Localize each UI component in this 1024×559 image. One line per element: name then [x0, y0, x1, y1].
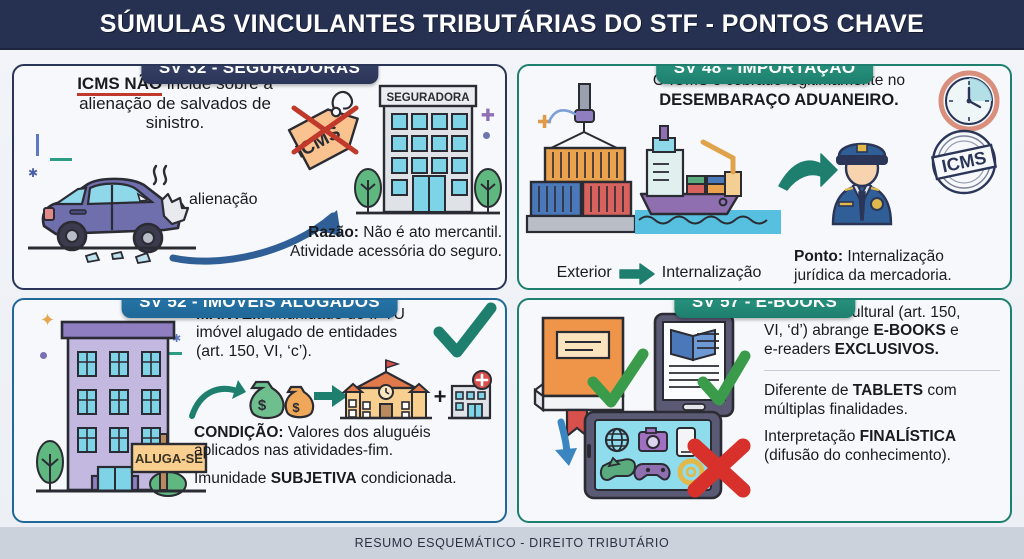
rent-to-entities-flow: $ $ [190, 368, 490, 424]
page-header: SÚMULAS VINCULANTES TRIBUTÁRIAS DO STF -… [0, 0, 1024, 50]
school-icon [340, 360, 432, 418]
green-check-icon [433, 306, 497, 362]
sv32-reason-label: Razão: [308, 224, 359, 241]
sv32-reason-line2: Atividade acessória do seguro. [290, 243, 502, 260]
cards-grid: SV 32 - SEGURADORAS ✱ ✚ ICMS NÃO incide … [0, 50, 1024, 527]
sv48-flow-to: Internalização [662, 264, 762, 283]
sv57-p3-pre: Interpretação [764, 428, 860, 445]
money-bag-icon: $ [250, 382, 283, 418]
customs-officer-icon [825, 128, 899, 224]
page-footer: RESUMO ESQUEMÁTICO - DIREITO TRIBUTÁRIO [0, 527, 1024, 559]
flow-arrow-icon [620, 264, 654, 284]
card-sv48[interactable]: SV 48 - IMPORTAÇÃO ✚ O ICMS é cobrado le… [517, 64, 1012, 290]
card-sv32[interactable]: SV 32 - SEGURADORAS ✱ ✚ ICMS NÃO incide … [12, 64, 507, 290]
hospital-icon [448, 371, 491, 418]
sv57-p1-line2-post: e [946, 322, 959, 339]
sv57-paragraph-2: Diferente de TABLETS com múltiplas final… [764, 382, 1004, 419]
tree-icon [37, 441, 63, 490]
sv57-p1-line2-bold: E-BOOKS [873, 322, 945, 339]
sv48-point: Ponto: Internalização jurídica da mercad… [794, 248, 1004, 285]
wall-clock-icon [938, 70, 1000, 132]
footer-caption: RESUMO ESQUEMÁTICO - DIREITO TRIBUTÁRIO [355, 536, 670, 550]
sv48-point-line2: jurídica da mercadoria. [794, 267, 952, 284]
sv52-condition-line2: aplicados nas atividades-fim. [194, 442, 393, 459]
money-bag-icon: $ [286, 387, 313, 417]
sv52-closing-post: condicionada. [357, 470, 457, 487]
sv52-closing: Imunidade SUBJETIVA condicionada. [194, 470, 494, 488]
apartment-building-icon: ALUGA-SE [36, 312, 206, 508]
decor-bar [36, 134, 39, 156]
sv52-statement-line3: (art. 150, VI, ‘c’). [196, 343, 312, 360]
svg-text:$: $ [258, 397, 267, 414]
plus-separator: + [434, 384, 447, 409]
card-sv52-badge: SV 52 - IMÓVEIS ALUGADOS [121, 298, 398, 318]
sv48-point-label: Ponto: [794, 248, 843, 265]
page-title: SÚMULAS VINCULANTES TRIBUTÁRIAS DO STF -… [100, 10, 924, 39]
sv57-p1-line3-bold: EXCLUSIVOS. [835, 341, 939, 358]
building-sign-label: SEGURADORA [386, 92, 469, 104]
sv52-condition-line1: Valores dos aluguéis [284, 424, 431, 441]
stamp-label: ICMS [940, 148, 988, 177]
sv52-condition: CONDIÇÃO: Valores dos aluguéis aplicados… [194, 424, 494, 461]
port-scene-icon [525, 84, 783, 256]
sv52-statement-line2: imóvel alugado de entidades [196, 324, 397, 341]
sv52-closing-pre: Imunidade [194, 470, 271, 487]
icms-stamp-icon: ICMS [926, 124, 1002, 200]
card-sv57[interactable]: SV 57 - E-BOOKS [517, 298, 1012, 524]
sv48-flow-from: Exterior [557, 264, 612, 283]
sv57-paragraph-3: Interpretação FINALÍSTICA (difusão do co… [764, 428, 1004, 465]
sv52-condition-label: CONDIÇÃO: [194, 424, 284, 441]
tree-icon [475, 169, 501, 212]
sv57-p3-bold: FINALÍSTICA [860, 428, 956, 445]
sv57-p2-line2: múltiplas finalidades. [764, 401, 908, 418]
card-sv32-badge: SV 32 - SEGURADORAS [141, 64, 378, 84]
sv57-p1-line2-pre: VI, ‘d’) abrange [764, 322, 873, 339]
infographic-page: SÚMULAS VINCULANTES TRIBUTÁRIAS DO STF -… [0, 0, 1024, 559]
sv48-point-line1: Internalização [843, 248, 944, 265]
sv57-icon-cluster [527, 304, 759, 500]
sv52-closing-bold: SUBJETIVA [271, 470, 357, 487]
sv57-p2-pre: Diferente de [764, 382, 853, 399]
sv57-p1-line3-pre: e-readers [764, 341, 835, 358]
sv57-text-column: Imunidade Cultural (art. 150, VI, ‘d’) a… [764, 304, 1004, 466]
card-sv52[interactable]: SV 52 - IMÓVEIS ALUGADOS ✦ ✱ [12, 298, 507, 524]
text-divider [764, 370, 1000, 371]
sv57-p2-bold: TABLETS [853, 382, 923, 399]
svg-text:$: $ [292, 400, 300, 415]
sv32-reason: Razão: Não é ato mercantil. Atividade ac… [242, 224, 502, 261]
sv48-flow: Exterior Internalização [529, 264, 789, 284]
sv57-p2-post: com [923, 382, 957, 399]
card-sv48-badge: SV 48 - IMPORTAÇÃO [656, 64, 874, 84]
sv57-p3-line2: (difusão do conhecimento). [764, 447, 951, 464]
sv32-reason-line1: Não é ato mercantil. [359, 224, 502, 241]
card-sv57-badge: SV 57 - E-BOOKS [674, 298, 855, 318]
insurance-building-icon: SEGURADORA [354, 76, 502, 236]
